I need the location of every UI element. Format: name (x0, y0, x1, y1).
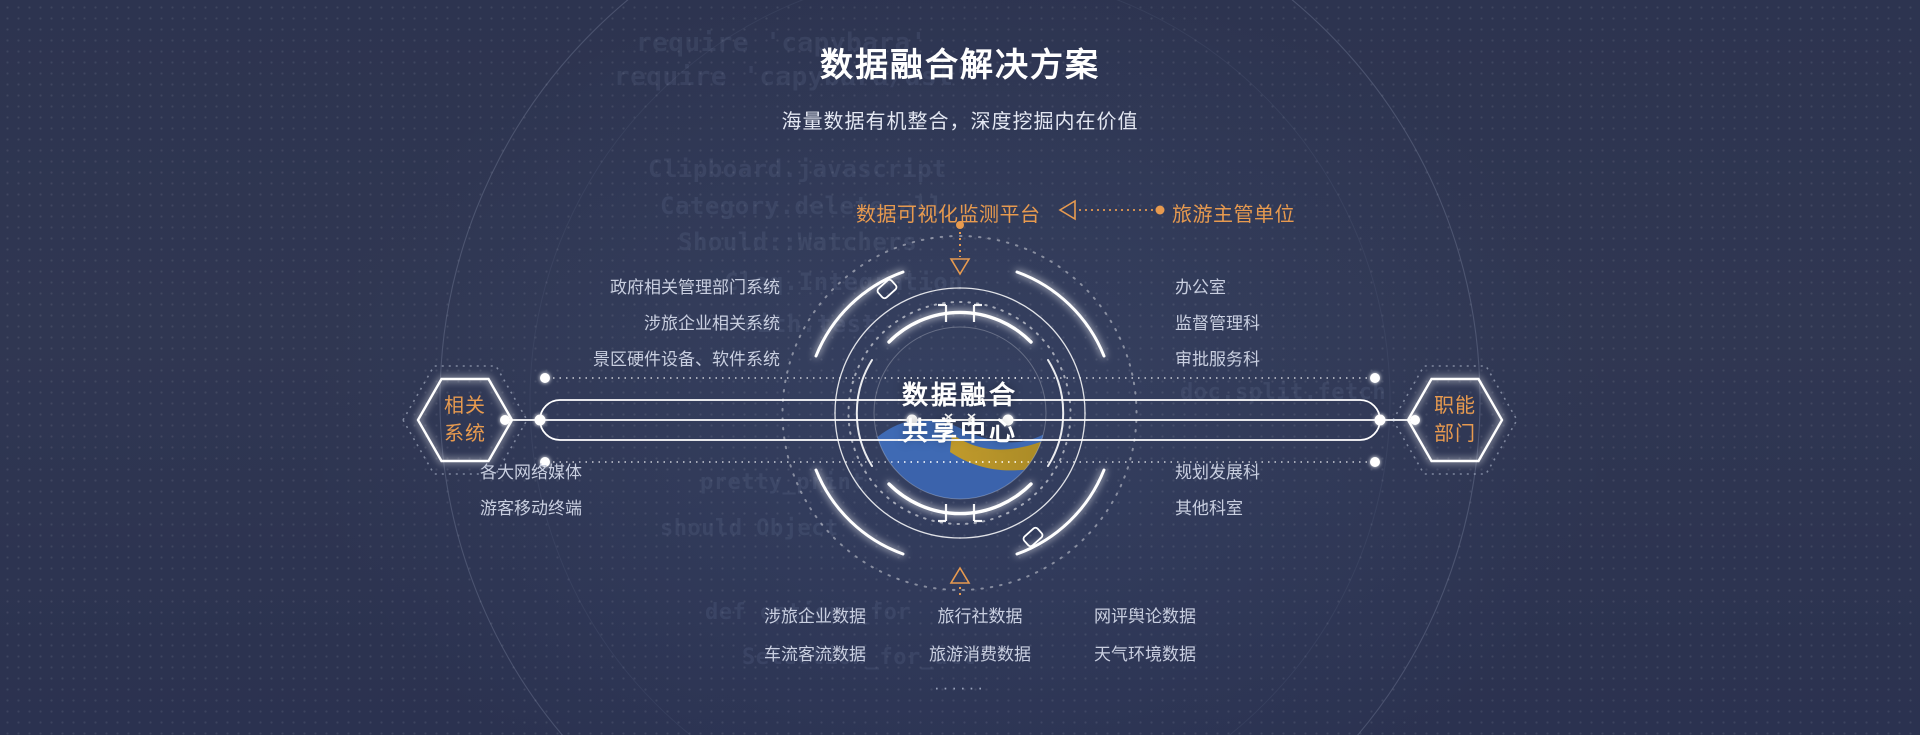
bg-code-2: Clipboard.javascript (648, 155, 947, 183)
bottom-ellipsis: ······ (0, 678, 1920, 698)
list-item[interactable]: 涉旅企业相关系统 (480, 306, 780, 342)
hex-right-line-2: 部门 (1395, 420, 1515, 448)
center-hub-label: 数据融合 共享中心 (860, 377, 1060, 449)
list-item[interactable]: 车流客流数据 (730, 636, 900, 674)
hex-right-label[interactable]: 职能 部门 (1395, 392, 1515, 448)
bg-code-7: pretty_print (700, 470, 865, 495)
list-item[interactable]: 其他科室 (1175, 491, 1435, 527)
list-item[interactable]: 网评舆论数据 (1060, 598, 1230, 636)
left-upper-list: 政府相关管理部门系统 涉旅企业相关系统 景区硬件设备、软件系统 (480, 270, 780, 378)
list-item[interactable]: 景区硬件设备、软件系统 (480, 342, 780, 378)
left-lower-list: 各大网络媒体 游客移动终端 (480, 455, 690, 527)
right-lower-list: 规划发展科 其他科室 (1175, 455, 1435, 527)
hex-left-line-2: 系统 (405, 420, 525, 448)
center-line-1: 数据融合 (860, 377, 1060, 413)
hex-left-line-1: 相关 (405, 392, 525, 420)
hex-left-label[interactable]: 相关 系统 (405, 392, 525, 448)
list-item[interactable]: 政府相关管理部门系统 (480, 270, 780, 306)
list-item[interactable]: 监督管理科 (1175, 306, 1435, 342)
right-upper-list: 办公室 监督管理科 审批服务科 (1175, 270, 1435, 378)
bg-code-4: Should::Watchers (678, 228, 917, 256)
list-item[interactable]: 旅游消费数据 (900, 636, 1060, 674)
page-subtitle: 海量数据有机整合，深度挖掘内在价值 (0, 105, 1920, 134)
list-item[interactable]: 涉旅企业数据 (730, 598, 900, 636)
infographic-canvas: require 'capybara' require 'capybara/dsl… (0, 0, 1920, 735)
platform-label[interactable]: 数据可视化监测平台 (856, 198, 1041, 227)
list-item[interactable]: 旅行社数据 (900, 598, 1060, 636)
page-title: 数据融合解决方案 (0, 38, 1920, 86)
authority-label[interactable]: 旅游主管单位 (1172, 198, 1295, 227)
center-line-2: 共享中心 (860, 413, 1060, 449)
list-item[interactable]: 办公室 (1175, 270, 1435, 306)
list-item[interactable]: 规划发展科 (1175, 455, 1435, 491)
bottom-data-grid: 涉旅企业数据 旅行社数据 网评舆论数据 车流客流数据 旅游消费数据 天气环境数据 (730, 598, 1230, 674)
list-item[interactable]: 各大网络媒体 (480, 455, 690, 491)
bg-code-11: doc.split.fetch (1180, 380, 1386, 405)
list-item[interactable]: 天气环境数据 (1060, 636, 1230, 674)
list-item[interactable]: 审批服务科 (1175, 342, 1435, 378)
list-item[interactable]: 游客移动终端 (480, 491, 690, 527)
hex-right-line-1: 职能 (1395, 392, 1515, 420)
